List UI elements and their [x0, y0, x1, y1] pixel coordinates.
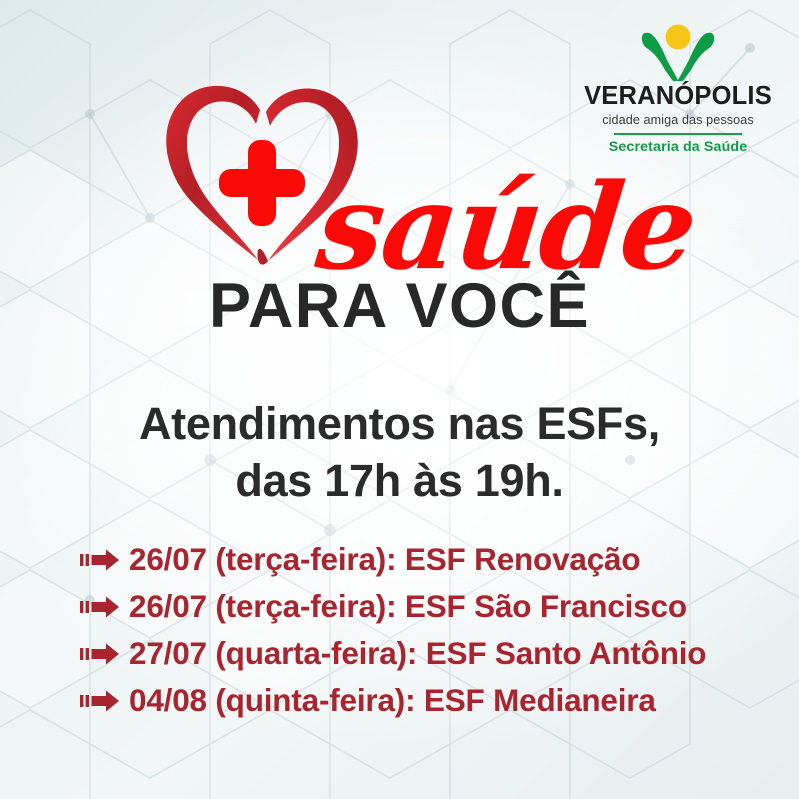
arrow-right-icon	[80, 689, 120, 713]
list-item: 04/08 (quinta-feira): ESF Medianeira	[0, 677, 799, 724]
list-item: 27/07 (quarta-feira): ESF Santo Antônio	[0, 630, 799, 677]
arrow-right-icon	[80, 595, 120, 619]
arrow-right-icon	[80, 642, 120, 666]
headline-line-1: Atendimentos nas ESFs,	[0, 396, 799, 453]
headline-line-2: das 17h às 19h.	[0, 453, 799, 510]
saude-wordmark: saúde	[312, 168, 701, 286]
schedule-item-text: 26/07 (terça-feira): ESF São Francisco	[129, 591, 687, 623]
list-item: 26/07 (terça-feira): ESF Renovação	[0, 536, 799, 583]
list-item: 26/07 (terça-feira): ESF São Francisco	[0, 583, 799, 630]
page-title: Atendimentos nas ESFs, das 17h às 19h.	[0, 396, 799, 509]
arrow-right-icon	[80, 548, 120, 572]
para-voce-subtitle: PARA VOCÊ	[0, 275, 799, 338]
schedule-item-text: 04/08 (quinta-feira): ESF Medianeira	[129, 685, 656, 717]
schedule-list: 26/07 (terça-feira): ESF Renovação 26/07…	[0, 536, 799, 724]
health-campaign-poster: VERANÓPOLIS cidade amiga das pessoas Sec…	[0, 0, 799, 799]
schedule-item-text: 26/07 (terça-feira): ESF Renovação	[129, 544, 640, 576]
brand-lockup: saúde	[0, 72, 799, 272]
schedule-item-text: 27/07 (quarta-feira): ESF Santo Antônio	[129, 638, 706, 670]
